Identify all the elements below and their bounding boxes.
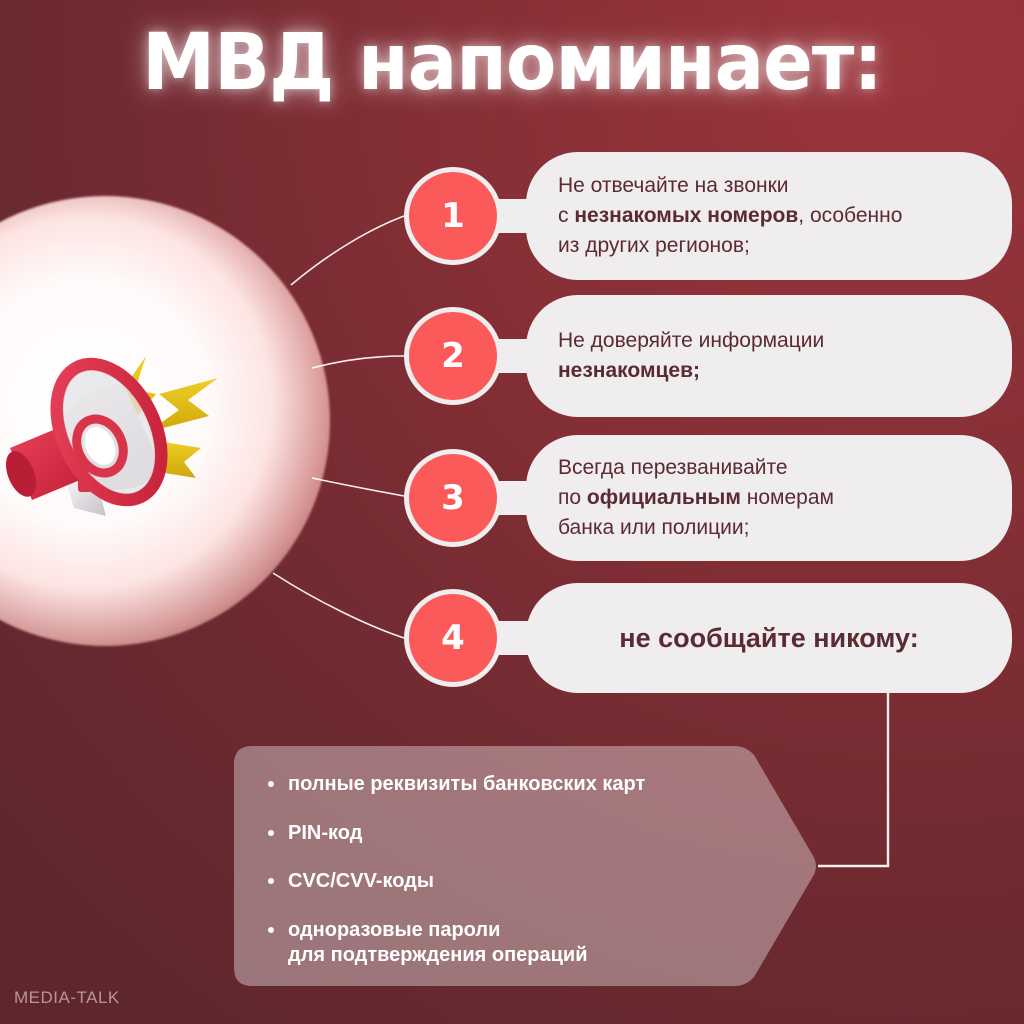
connector-to-step-3 <box>312 478 404 496</box>
step-badge-2[interactable]: 2 <box>404 307 502 405</box>
page-title: МВД напоминает: <box>31 18 994 108</box>
connector-to-step-4 <box>273 573 404 638</box>
watermark: MEDIA-TALK <box>14 988 120 1008</box>
step-text-2: Не доверяйте информациинезнакомцев; <box>526 326 858 386</box>
step-item-3[interactable]: 3 Всегда перезванивайтепо официальным но… <box>404 435 1012 561</box>
step-text-1: Не отвечайте на звонкис незнакомых номер… <box>526 171 936 260</box>
step-card-2: Не доверяйте информациинезнакомцев; <box>526 295 1012 417</box>
step-card-4: не сообщайте никому: <box>526 583 1012 693</box>
connector-step4-to-panel <box>818 682 888 866</box>
step-card-1: Не отвечайте на звонкис незнакомых номер… <box>526 152 1012 280</box>
sensitive-data-panel: полные реквизиты банковских карт PIN-код… <box>234 746 818 986</box>
list-item: PIN-код <box>264 821 754 847</box>
sensitive-data-list: полные реквизиты банковских карт PIN-код… <box>234 746 754 986</box>
step-badge-1[interactable]: 1 <box>404 167 502 265</box>
step-card-3: Всегда перезванивайтепо официальным номе… <box>526 435 1012 561</box>
step-badge-4[interactable]: 4 <box>404 589 502 687</box>
connector-to-step-2 <box>312 356 404 368</box>
infographic-poster: МВД напоминает: 1 Не отвечайте на звонки… <box>0 0 1024 1024</box>
connector-to-step-1 <box>291 216 404 285</box>
step-item-4[interactable]: 4 не сообщайте никому: <box>404 583 1012 693</box>
list-item: полные реквизиты банковских карт <box>264 772 754 798</box>
step-item-2[interactable]: 2 Не доверяйте информациинезнакомцев; <box>404 295 1012 417</box>
list-item: CVC/CVV-коды <box>264 869 754 895</box>
step-text-3: Всегда перезванивайтепо официальным номе… <box>526 453 868 542</box>
megaphone-icon <box>0 320 296 570</box>
step-item-1[interactable]: 1 Не отвечайте на звонкис незнакомых ном… <box>404 152 1012 280</box>
step-text-4: не сообщайте никому: <box>526 619 1012 657</box>
list-item: одноразовые паролидля подтверждения опер… <box>264 918 754 969</box>
step-badge-3[interactable]: 3 <box>404 449 502 547</box>
